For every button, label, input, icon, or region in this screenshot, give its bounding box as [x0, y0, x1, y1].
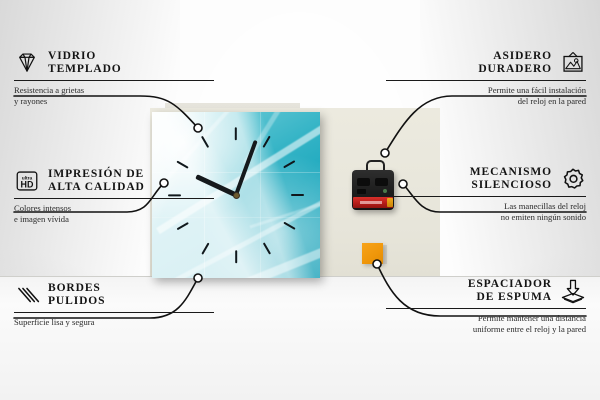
- diagonal-lines-icon: [14, 282, 40, 308]
- feature-title-line2: DE ESPUMA: [468, 291, 552, 304]
- feature-divider: [14, 312, 214, 313]
- feature-callout-bordes-pulidos[interactable]: BORDES PULIDOS Superficie lisa y segura: [14, 282, 214, 328]
- feature-callout-mecanismo-silencioso[interactable]: MECANISMO SILENCIOSO Las manecillas del …: [386, 166, 586, 222]
- feature-desc-line1: Colores intensos: [14, 203, 214, 214]
- feature-desc-line2: del reloj en la pared: [386, 96, 586, 107]
- feature-title-line2: ALTA CALIDAD: [48, 181, 145, 194]
- feature-divider: [386, 308, 586, 309]
- feature-desc-line1: Las manecillas del reloj: [386, 201, 586, 212]
- ultra-hd-badge-icon: ultra HD: [14, 168, 40, 194]
- feature-title-line1: ESPACIADOR: [468, 278, 552, 291]
- feature-title-line1: BORDES: [48, 282, 105, 295]
- feature-title-line2: SILENCIOSO: [470, 179, 552, 192]
- feature-desc-line1: Permite mantener una distancia: [386, 313, 586, 324]
- feature-title-line2: TEMPLADO: [48, 63, 122, 76]
- connector-anchor-bordes: [194, 274, 202, 282]
- feature-divider: [386, 196, 586, 197]
- down-arrow-layers-icon: [560, 278, 586, 304]
- feature-title-line1: IMPRESIÓN DE: [48, 168, 145, 181]
- feature-callout-asidero-duradero[interactable]: ASIDERO DURADERO Permite una fácil insta…: [386, 50, 586, 106]
- feature-callout-vidrio-templado[interactable]: VIDRIO TEMPLADO Resistencia a grietas y …: [14, 50, 214, 106]
- connector-anchor-vidrio: [194, 124, 202, 132]
- feature-desc-line2: uniforme entre el reloj y la pared: [386, 324, 586, 335]
- feature-desc-line2: no emiten ningún sonido: [386, 212, 586, 223]
- feature-title-line2: DURADERO: [478, 63, 552, 76]
- connector-anchor-asidero: [381, 149, 389, 157]
- feature-title-line1: MECANISMO: [470, 166, 552, 179]
- connector-anchor-espaciador: [373, 260, 381, 268]
- feature-title-line2: PULIDOS: [48, 295, 105, 308]
- feature-divider: [14, 198, 214, 199]
- feature-divider: [14, 80, 214, 81]
- feature-desc-line1: Resistencia a grietas: [14, 85, 214, 96]
- feature-desc-line2: e imagen vívida: [14, 214, 214, 225]
- feature-desc-line1: Permite una fácil instalación: [386, 85, 586, 96]
- diamond-icon: [14, 50, 40, 76]
- feature-callout-impresion-alta-calidad[interactable]: ultra HD IMPRESIÓN DE ALTA CALIDAD Color…: [14, 168, 214, 224]
- feature-title-line1: ASIDERO: [478, 50, 552, 63]
- infographic-canvas: VIDRIO TEMPLADO Resistencia a grietas y …: [0, 0, 600, 400]
- gear-icon: [560, 166, 586, 192]
- framed-picture-hanger-icon: [560, 50, 586, 76]
- ultra-hd-large-text: HD: [21, 180, 34, 190]
- feature-divider: [386, 80, 586, 81]
- feature-desc-line1: Superficie lisa y segura: [14, 317, 214, 328]
- feature-title-line1: VIDRIO: [48, 50, 122, 63]
- feature-callout-espaciador-de-espuma[interactable]: ESPACIADOR DE ESPUMA Permite mantener un…: [386, 278, 586, 334]
- feature-desc-line2: y rayones: [14, 96, 214, 107]
